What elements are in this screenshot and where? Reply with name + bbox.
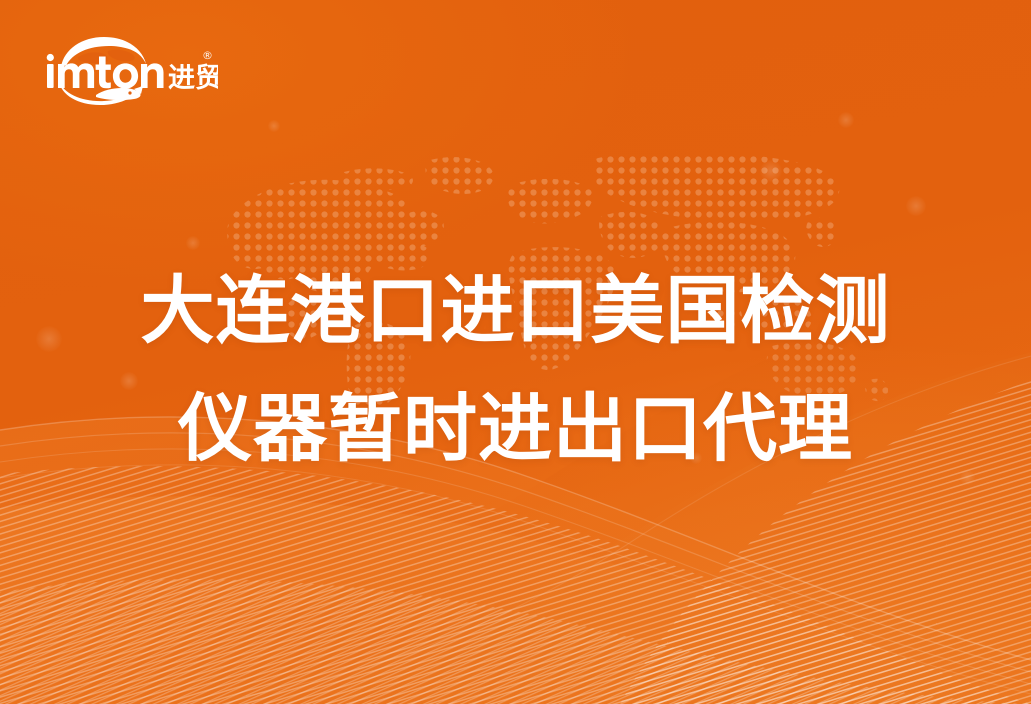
- headline-line-1: 大连港口进口美国检测: [0, 252, 1031, 370]
- promotional-banner: 进贸通 ® 大连港口进口美国检测 仪器暂时进出口代理: [0, 0, 1031, 704]
- logo-chinese-text: 进贸通: [168, 63, 218, 94]
- brand-logo[interactable]: 进贸通 ®: [42, 31, 218, 107]
- page-title: 大连港口进口美国检测 仪器暂时进出口代理: [0, 252, 1031, 488]
- trademark-symbol: ®: [202, 49, 213, 62]
- logo-mark: 进贸通 ®: [42, 31, 218, 107]
- headline-line-2: 仪器暂时进出口代理: [0, 370, 1031, 488]
